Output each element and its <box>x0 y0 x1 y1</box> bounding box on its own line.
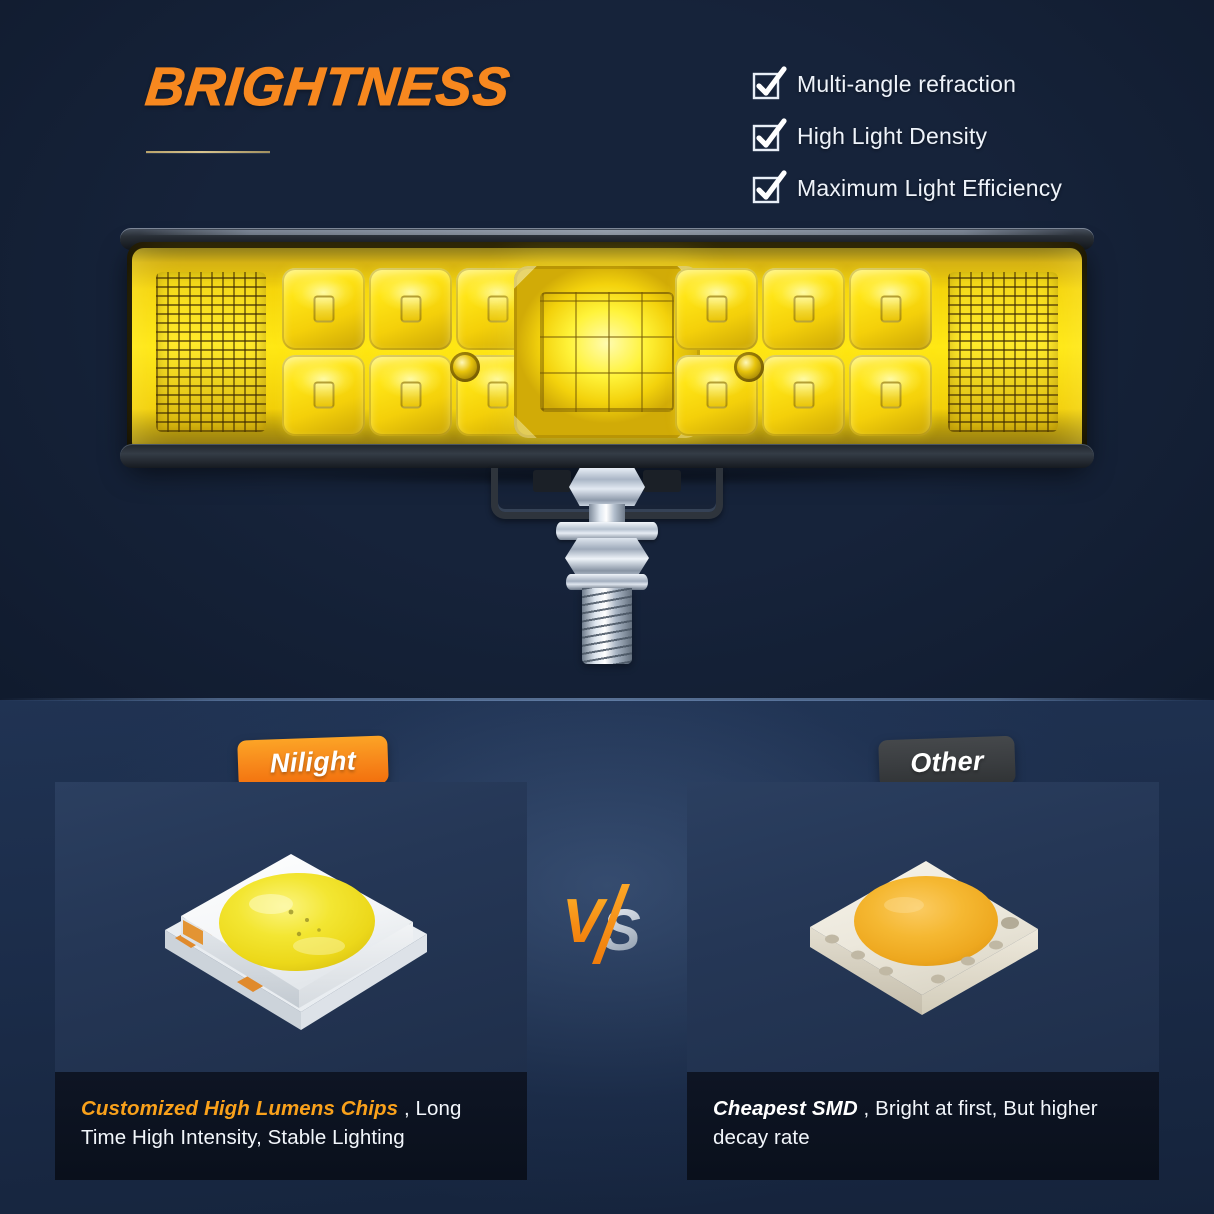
side-shooter-reflector-right <box>948 272 1058 432</box>
other-led-chip-icon <box>788 831 1058 1031</box>
led-pod-column <box>762 268 845 436</box>
badge-nilight: Nilight <box>237 735 389 788</box>
led-pod-group-left <box>282 268 539 436</box>
badge-label: Other <box>910 745 985 779</box>
housing-bottom-cap <box>120 444 1094 468</box>
nilight-led-chip-icon <box>141 812 441 1042</box>
badge-other: Other <box>878 736 1016 789</box>
badge-label: Nilight <box>269 745 356 779</box>
checkbox-checked-icon <box>752 175 779 202</box>
mounting-hardware <box>0 468 1214 668</box>
flat-washer <box>556 522 658 540</box>
feature-label: Multi-angle refraction <box>797 71 1016 98</box>
lens-inner-grid <box>540 292 674 412</box>
led-pod <box>282 355 365 437</box>
led-pod <box>369 268 452 350</box>
title-underline-rule <box>146 151 270 153</box>
led-pod <box>675 268 758 350</box>
marketing-infographic: BRIGHTNESS Multi-angle refraction High L… <box>0 0 1214 1214</box>
bracket-pad-right <box>643 470 681 492</box>
bracket-pad-left <box>533 470 571 492</box>
feature-item: Maximum Light Efficiency <box>752 172 1152 204</box>
led-pod <box>282 268 365 350</box>
comparison-panel-other: Other <box>687 782 1159 1180</box>
led-pod <box>849 355 932 437</box>
led-pod <box>369 355 452 437</box>
threaded-stud <box>582 588 632 664</box>
checkbox-checked-icon <box>752 71 779 98</box>
led-pod <box>762 268 845 350</box>
feature-item: High Light Density <box>752 120 1152 152</box>
side-shooter-reflector-left <box>156 272 266 432</box>
led-pod-column <box>369 268 452 436</box>
led-pod-column <box>282 268 365 436</box>
checkbox-checked-icon <box>752 123 779 150</box>
led-pod <box>762 355 845 437</box>
other-caption-text: Cheapest SMD , Bright at first, But high… <box>713 1094 1139 1152</box>
feature-label: High Light Density <box>797 123 987 150</box>
nilight-chip-photo <box>55 782 527 1072</box>
versus-divider-icon: V S <box>560 872 670 976</box>
caption-emphasis: Customized High Lumens Chips <box>81 1097 398 1120</box>
other-caption-box: Cheapest SMD , Bright at first, But high… <box>687 1072 1159 1180</box>
nilight-caption-text: Customized High Lumens Chips , Long Time… <box>81 1094 507 1152</box>
led-pod <box>849 268 932 350</box>
hex-lock-nut <box>565 538 649 578</box>
amber-lens <box>132 248 1082 454</box>
lens-screw-right <box>734 352 764 382</box>
page-title: BRIGHTNESS <box>143 56 514 118</box>
caption-emphasis: Cheapest SMD <box>713 1097 858 1120</box>
other-chip-photo <box>687 782 1159 1072</box>
feature-list: Multi-angle refraction High Light Densit… <box>752 68 1152 224</box>
led-pod-group-right <box>675 268 932 436</box>
led-pod-column <box>849 268 932 436</box>
feature-label: Maximum Light Efficiency <box>797 175 1062 202</box>
center-flood-lens <box>514 266 700 438</box>
section-divider <box>0 698 1214 701</box>
hex-bolt-head <box>569 468 645 506</box>
lens-screw-left <box>450 352 480 382</box>
nilight-caption-box: Customized High Lumens Chips , Long Time… <box>55 1072 527 1180</box>
comparison-panel-nilight: Nilight <box>55 782 527 1180</box>
feature-item: Multi-angle refraction <box>752 68 1152 100</box>
housing-body <box>127 242 1087 464</box>
led-light-bar-product-image <box>112 228 1102 478</box>
